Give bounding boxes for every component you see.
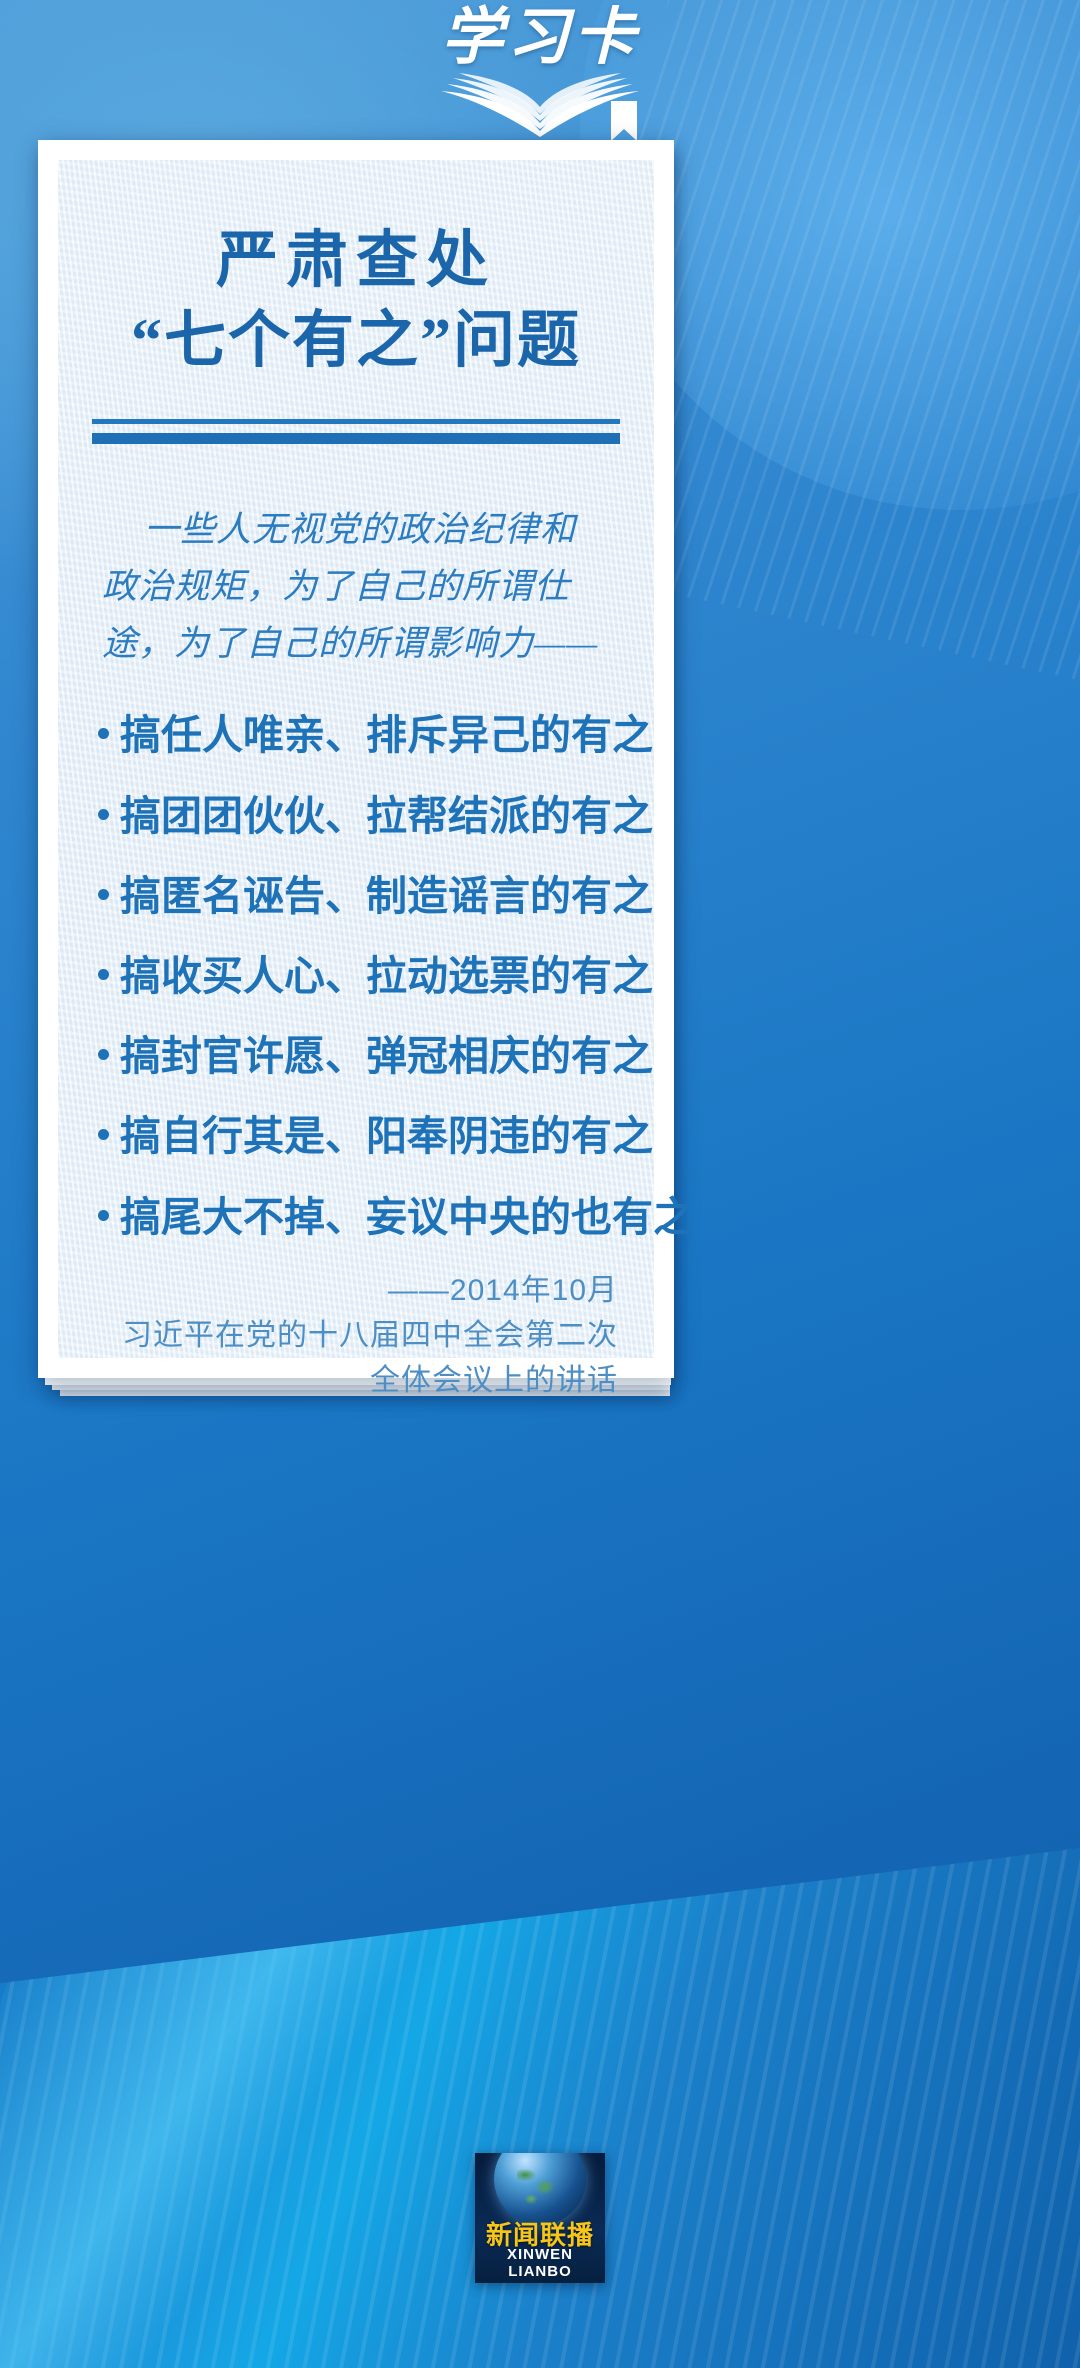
list-item-label: 搞收买人心、拉动选票的有之 bbox=[120, 947, 653, 1005]
list-item-label: 搞自行其是、阳奉阴违的有之 bbox=[120, 1107, 653, 1165]
page-title: 严肃查处 “七个有之”问题 bbox=[88, 224, 624, 379]
bullet-dot-icon bbox=[98, 969, 109, 980]
bullet-dot-icon bbox=[98, 809, 109, 820]
footer: 新闻联播 XINWEN LIANBO bbox=[0, 2068, 1080, 2368]
header: 学习卡 bbox=[0, 0, 1080, 150]
title-divider bbox=[92, 419, 620, 444]
brand-title: 学习卡 bbox=[390, 7, 690, 69]
globe-landmass bbox=[517, 2167, 563, 2209]
list-item: 搞收买人心、拉动选票的有之 bbox=[94, 947, 624, 1005]
bullet-dot-icon bbox=[98, 889, 109, 900]
bullet-list: 搞任人唯亲、排斥异己的有之 搞团团伙伙、拉帮结派的有之 搞匿名诬告、制造谣言的有… bbox=[94, 706, 624, 1268]
list-item-label: 搞尾大不掉、妄议中央的也有之 bbox=[120, 1188, 694, 1246]
list-item-label: 搞团团伙伙、拉帮结派的有之 bbox=[120, 787, 653, 845]
open-book-icon bbox=[425, 69, 655, 141]
brand-logo: 学习卡 bbox=[390, 5, 690, 145]
list-item: 搞自行其是、阳奉阴违的有之 bbox=[94, 1107, 624, 1165]
list-item: 搞匿名诬告、制造谣言的有之 bbox=[94, 867, 624, 925]
title-line-2: “七个有之”问题 bbox=[88, 304, 624, 380]
attribution-date: ——2014年10月 bbox=[88, 1268, 618, 1313]
list-item-label: 搞匿名诬告、制造谣言的有之 bbox=[120, 867, 653, 925]
card-inner: 严肃查处 “七个有之”问题 一些人无视党的政治纪律和政治规矩，为了自己的所谓仕途… bbox=[58, 160, 654, 1358]
bullet-dot-icon bbox=[98, 1129, 109, 1140]
title-line-1: 严肃查处 bbox=[88, 224, 624, 300]
list-item: 搞尾大不掉、妄议中央的也有之 bbox=[94, 1188, 624, 1246]
list-item-label: 搞任人唯亲、排斥异己的有之 bbox=[120, 706, 653, 764]
bullet-dot-icon bbox=[98, 728, 109, 739]
content-card: 严肃查处 “七个有之”问题 一些人无视党的政治纪律和政治规矩，为了自己的所谓仕途… bbox=[38, 140, 674, 1378]
card-stack: 严肃查处 “七个有之”问题 一些人无视党的政治纪律和政治规矩，为了自己的所谓仕途… bbox=[38, 140, 1042, 1410]
bullet-dot-icon bbox=[98, 1049, 109, 1060]
xinwen-lianbo-logo: 新闻联播 XINWEN LIANBO bbox=[475, 2153, 605, 2283]
list-item: 搞团团伙伙、拉帮结派的有之 bbox=[94, 787, 624, 845]
attribution: ——2014年10月 习近平在党的十八届四中全会第二次 全体会议上的讲话 bbox=[88, 1268, 624, 1403]
list-item: 搞封官许愿、弹冠相庆的有之 bbox=[94, 1027, 624, 1085]
bullet-dot-icon bbox=[98, 1210, 109, 1221]
attribution-source-line-2: 全体会议上的讲话 bbox=[88, 1358, 618, 1403]
attribution-source-line-1: 习近平在党的十八届四中全会第二次 bbox=[88, 1313, 618, 1358]
divider-thick-rule bbox=[92, 433, 620, 444]
logo-label-en: XINWEN LIANBO bbox=[475, 2246, 605, 2280]
divider-thin-rule bbox=[92, 419, 620, 424]
intro-paragraph: 一些人无视党的政治纪律和政治规矩，为了自己的所谓仕途，为了自己的所谓影响力—— bbox=[102, 502, 610, 672]
list-item: 搞任人唯亲、排斥异己的有之 bbox=[94, 706, 624, 764]
list-item-label: 搞封官许愿、弹冠相庆的有之 bbox=[120, 1027, 653, 1085]
